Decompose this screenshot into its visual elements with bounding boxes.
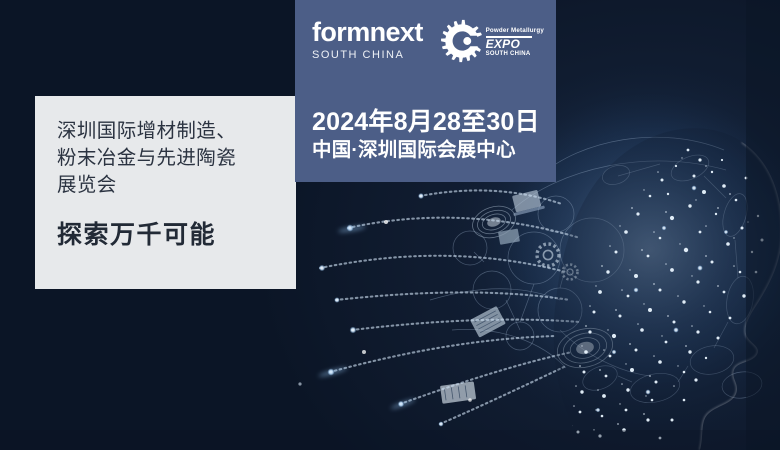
exhibition-slogan: 探索万千可能: [57, 220, 274, 250]
event-venue: 中国·深圳国际会展中心: [312, 137, 540, 163]
formnext-region: SOUTH CHINA: [312, 48, 423, 62]
event-date: 2024年8月28至30日: [312, 107, 540, 137]
gear-c-icon: [440, 19, 484, 63]
brand-date-block: formnext SOUTH CHINA: [295, 0, 556, 182]
event-banner: 深圳国际增材制造、 粉末冶金与先进陶瓷 展览会 探索万千可能 formnext …: [0, 0, 780, 450]
exhibition-title: 深圳国际增材制造、 粉末冶金与先进陶瓷 展览会: [57, 118, 274, 199]
pm-expo-line3: SOUTH CHINA: [486, 51, 544, 58]
formnext-wordmark: formnext: [312, 17, 423, 47]
info-panel: 深圳国际增材制造、 粉末冶金与先进陶瓷 展览会 探索万千可能: [35, 96, 296, 289]
event-datetime: 2024年8月28至30日 中国·深圳国际会展中心: [312, 107, 540, 163]
pm-expo-line1: Powder Metallurgy: [486, 27, 544, 34]
pm-expo-text: Powder Metallurgy EXPO SOUTH CHINA: [486, 24, 544, 58]
pm-expo-logo: Powder Metallurgy EXPO SOUTH CHINA: [440, 19, 544, 63]
formnext-brand: formnext SOUTH CHINA: [312, 17, 423, 62]
pm-expo-line2: EXPO: [486, 38, 544, 51]
brand-row: formnext SOUTH CHINA: [312, 17, 548, 75]
